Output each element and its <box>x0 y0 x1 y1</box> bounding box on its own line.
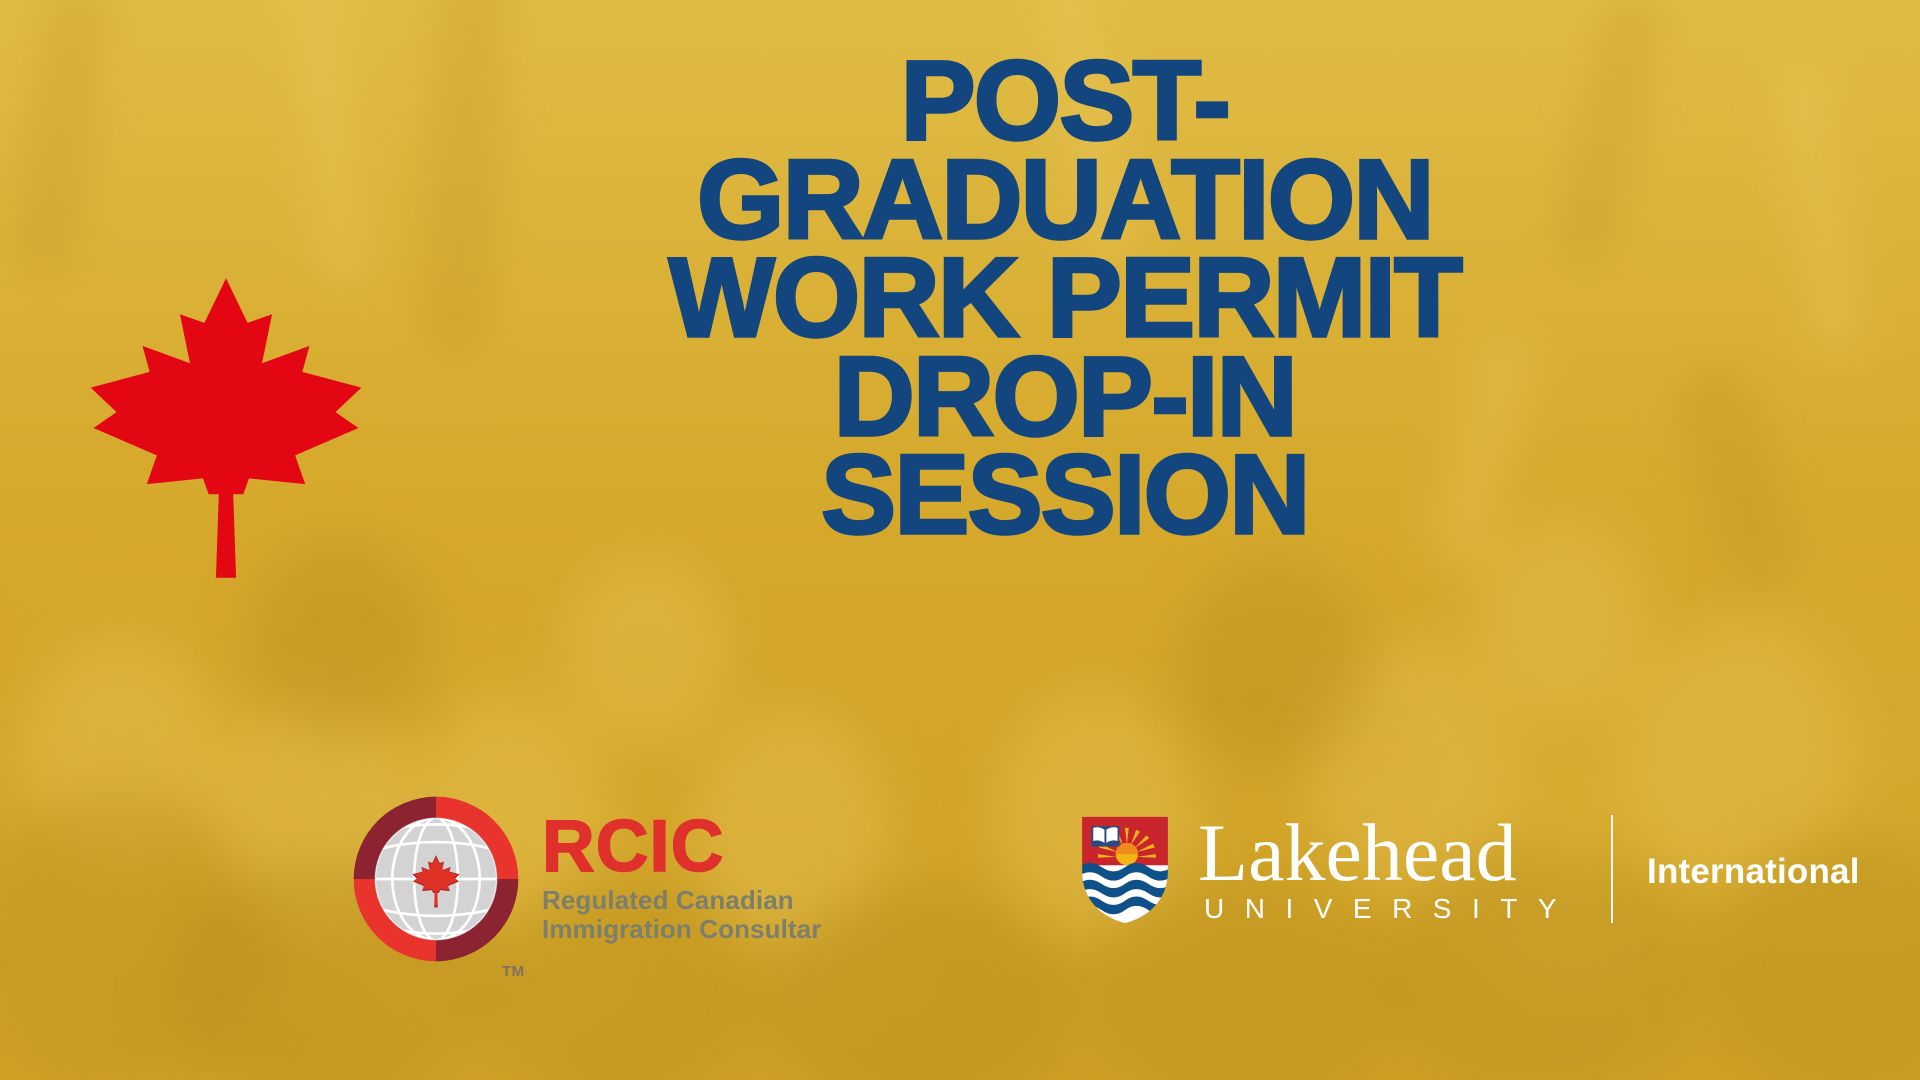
lakehead-university-logo: Lakehead UNIVERSITY International <box>1078 813 1860 925</box>
rcic-acronym: RCIC <box>542 813 821 880</box>
heading-line-1: POST- <box>440 52 1690 151</box>
page-title: POST- GRADUATION WORK PERMIT DROP-IN SES… <box>440 52 1690 545</box>
rcic-globe-maple-leaf-emblem-icon: TM <box>352 795 520 963</box>
lakehead-wordmark: Lakehead UNIVERSITY <box>1198 815 1577 922</box>
lakehead-university-text: UNIVERSITY <box>1198 895 1577 923</box>
rcic-logo: TM RCIC Regulated Canadian Immigration C… <box>352 795 821 963</box>
rcic-wordmark: RCIC Regulated Canadian Immigration Cons… <box>542 795 821 944</box>
heading-line-5: SESSION <box>440 446 1690 545</box>
trademark-symbol: TM <box>502 963 525 980</box>
lakehead-international-label: International <box>1647 846 1860 892</box>
maple-leaf-icon <box>82 272 370 584</box>
logo-row: TM RCIC Regulated Canadian Immigration C… <box>0 795 1920 1025</box>
logo-divider <box>1611 815 1613 923</box>
rcic-tagline-line-2: Immigration Consultar <box>542 915 821 944</box>
lakehead-shield-icon <box>1078 813 1172 925</box>
rcic-tagline-line-1: Regulated Canadian <box>542 886 821 915</box>
lakehead-name: Lakehead <box>1198 815 1577 890</box>
poster-canvas: POST- GRADUATION WORK PERMIT DROP-IN SES… <box>0 0 1920 1080</box>
heading-line-3: WORK PERMIT <box>440 249 1690 348</box>
